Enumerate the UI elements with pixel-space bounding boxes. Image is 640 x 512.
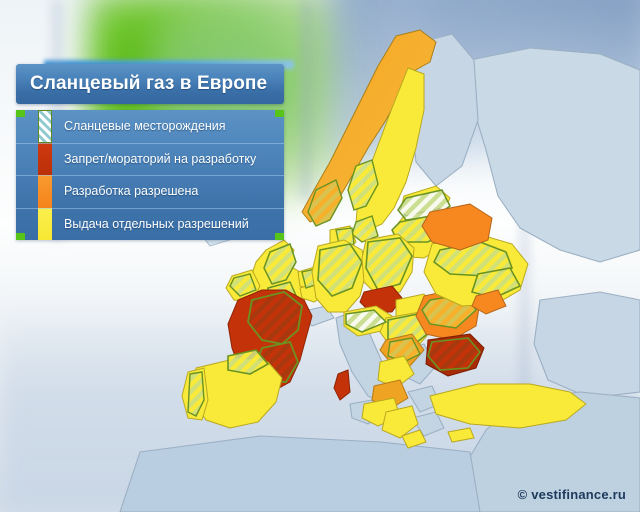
color-swatch-icon-permits	[38, 208, 52, 241]
legend-label-allowed: Разработка разрешена	[52, 184, 198, 198]
country-portugal	[182, 368, 208, 420]
legend-item-allowed: Разработка разрешена	[16, 175, 284, 208]
country-bulgaria	[426, 334, 484, 376]
source-watermark: © vestifinance.ru	[518, 487, 626, 502]
page-title: Сланцевый газ в Европе	[16, 73, 267, 95]
legend-label-ban: Запрет/мораторий на разработку	[52, 152, 256, 166]
country-germany	[312, 240, 366, 312]
legend-label-shale-deposits: Сланцевые месторождения	[52, 119, 226, 133]
infographic-title-bar: Сланцевый газ в Европе	[16, 64, 284, 104]
legend-label-permits: Выдача отдельных разрешений	[52, 217, 249, 231]
legend-item-shale-deposits: Сланцевые месторождения	[16, 110, 284, 143]
infographic-canvas: Сланцевый газ в Европе Сланцевые месторо…	[0, 0, 640, 512]
legend-item-ban: Запрет/мораторий на разработку	[16, 143, 284, 176]
legend-item-permits: Выдача отдельных разрешений	[16, 208, 284, 241]
color-swatch-icon-ban	[38, 143, 52, 176]
map-legend: Сланцевые месторождения Запрет/мораторий…	[16, 110, 284, 240]
color-swatch-icon-allowed	[38, 175, 52, 208]
hatch-swatch-icon	[38, 110, 52, 143]
